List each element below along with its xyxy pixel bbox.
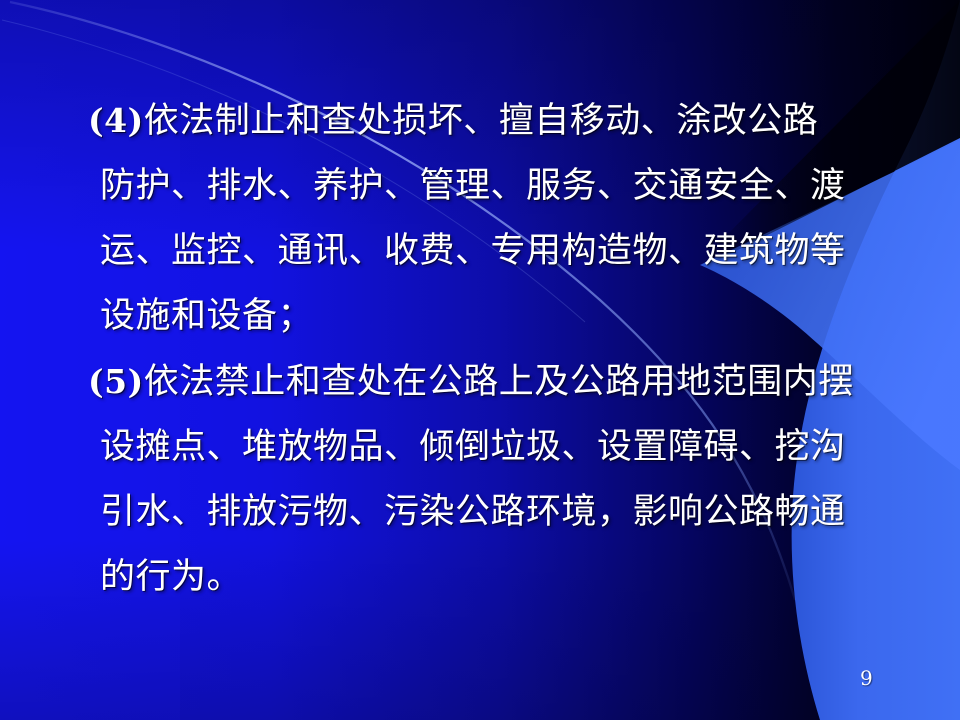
bullet-line-5-4-text: 的行为。 <box>100 557 242 597</box>
bullet-line-5-4: 的行为。 <box>0 545 905 610</box>
page-number: 9 <box>860 666 873 690</box>
bullet-line-5-3-text: 引水、排放污物、污染公路环境，影响公路畅通 <box>100 492 846 532</box>
bullet-line-5-3: 引水、排放污物、污染公路环境，影响公路畅通 <box>0 480 905 545</box>
bullet-marker-5: (5) <box>88 362 144 401</box>
bullet-text-4: 依法制止和查处损坏、擅自移动、涂改公路 <box>144 101 819 141</box>
bullet-line-5-2-text: 设摊点、堆放物品、倾倒垃圾、设置障碍、挖沟 <box>100 427 846 467</box>
bullet-paragraph-5: (5)依法禁止和查处在公路上及公路用地范围内摆 <box>0 349 905 415</box>
bullet-line-5-2: 设摊点、堆放物品、倾倒垃圾、设置障碍、挖沟 <box>0 415 905 480</box>
bullet-line-4-3-text: 运、监控、通讯、收费、专用构造物、建筑物等 <box>100 231 846 271</box>
bullet-line-4-2: 防护、排水、养护、管理、服务、交通安全、渡 <box>0 154 905 219</box>
bullet-paragraph-4: (4)依法制止和查处损坏、擅自移动、涂改公路 <box>0 88 905 154</box>
bullet-line-4-4: 设施和设备； <box>0 284 905 349</box>
bullet-line-4-4-text: 设施和设备； <box>100 296 313 336</box>
bullet-marker-4: (4) <box>88 101 144 140</box>
slide-content: (4)依法制止和查处损坏、擅自移动、涂改公路 防护、排水、养护、管理、服务、交通… <box>0 0 960 720</box>
bullet-line-4-2-text: 防护、排水、养护、管理、服务、交通安全、渡 <box>100 166 846 206</box>
bullet-text-5: 依法禁止和查处在公路上及公路用地范围内摆 <box>144 362 854 402</box>
presentation-slide: (4)依法制止和查处损坏、擅自移动、涂改公路 防护、排水、养护、管理、服务、交通… <box>0 0 960 720</box>
bullet-line-4-3: 运、监控、通讯、收费、专用构造物、建筑物等 <box>0 219 905 284</box>
slide-body-text: (4)依法制止和查处损坏、擅自移动、涂改公路 防护、排水、养护、管理、服务、交通… <box>0 88 905 610</box>
